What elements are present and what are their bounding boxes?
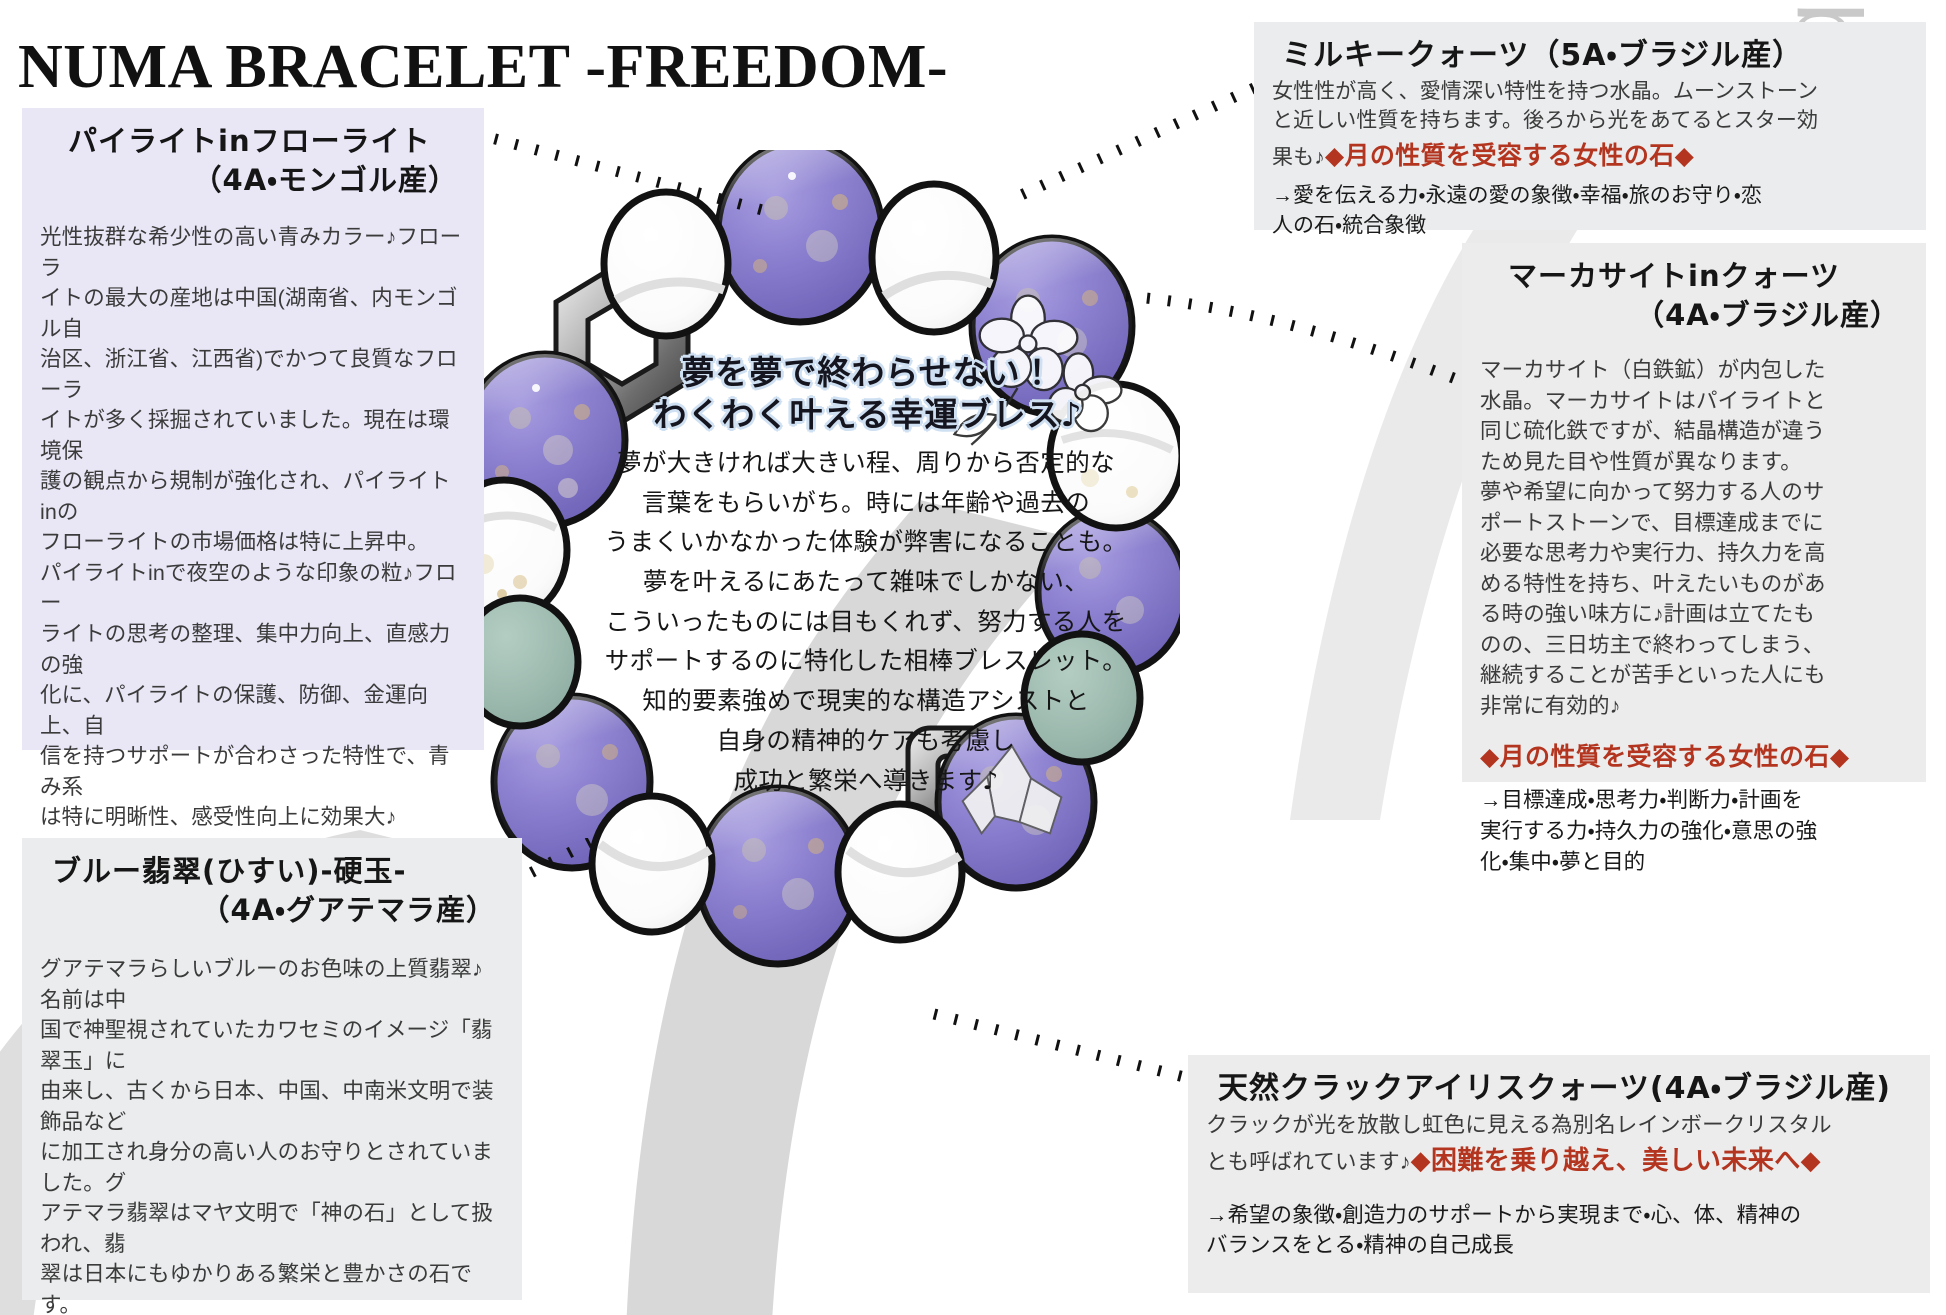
center-description: 夢が大きければ大きい程、周りから否定的な 言葉をもらいがち。時には年齢や過去の … [556, 443, 1176, 800]
bead-milky-quartz [838, 804, 962, 940]
stone-name-marcasite: マーカサイトinクォーツ （4A・ブラジル産） [1480, 257, 1908, 335]
panel-crack-iris-quartz: 天然クラックアイリスクォーツ(4A・ブラジル産) クラックが光を放散し虹色に見え… [1188, 1055, 1930, 1293]
stone-headline-milky: ◆月の性質を受容する女性の石◆ [1325, 142, 1694, 170]
stone-body-milky-row: 女性性が高く、愛情深い特性を持つ水晶。ムーンストーン と近しい性質を持ちます。後… [1272, 77, 1908, 173]
stone-effects-milky: →愛を伝える力・永遠の愛の象徴・幸福・旅のお守り・恋 人の石・統合象徴 [1272, 181, 1908, 241]
page-title: NUMA BRACELET -FREEDOM- [18, 32, 948, 103]
stone-name-milky: ミルキークォーツ（5A・ブラジル産） [1272, 36, 1908, 77]
stone-name-pyrite-line2: （4A・モンゴル産） [68, 161, 466, 200]
bead-milky-quartz [592, 796, 712, 932]
stone-name-crack-line1: 天然クラックアイリスクォーツ(4A・ブラジル産) [1218, 1071, 1891, 1106]
bead-milky-quartz [872, 184, 996, 332]
panel-pyrite-in-fluorite: パイライトinフローライト （4A・モンゴル産） 光性抜群な希少性の高い青みカラ… [22, 108, 484, 750]
bead-pyrite-in-fluorite [698, 788, 858, 964]
bead-milky-quartz [604, 192, 728, 336]
stone-name-jade-line1: ブルー翡翠(ひすい)-硬玉- [52, 854, 407, 888]
stone-name-jade-line2: （4A・グアテマラ産） [52, 891, 504, 930]
stone-headline-crack: ◆困難を乗り越え、美しい未来へ◆ [1411, 1145, 1821, 1175]
panel-milky-quartz: ミルキークォーツ（5A・ブラジル産） 女性性が高く、愛情深い特性を持つ水晶。ムー… [1254, 22, 1926, 230]
stone-name-crack: 天然クラックアイリスクォーツ(4A・ブラジル産) [1206, 1069, 1912, 1110]
stone-name-milky-line1: ミルキークォーツ（5A・ブラジル産） [1282, 38, 1803, 73]
poster-canvas: belle welle shop NUMA BRACELET -FREEDOM- [0, 0, 1946, 1315]
stone-effects-marcasite: →目標達成・思考力・判断力・計画を 実行する力・持久力の強化・意思の強 化・集中… [1480, 785, 1908, 877]
stone-name-marcasite-line2: （4A・ブラジル産） [1508, 296, 1908, 335]
stone-effects-crack: →希望の象徴・創造力のサポートから実現まで・心、体、精神の バランスをとる・精神… [1206, 1200, 1912, 1261]
stone-body-jade: グアテマラらしいブルーのお色味の上質翡翠♪名前は中 国で神聖視されていたカワセミ… [40, 954, 504, 1315]
stone-name-jade: ブルー翡翠(ひすい)-硬玉- （4A・グアテマラ産） [40, 852, 504, 930]
stone-name-pyrite: パイライトinフローライト （4A・モンゴル産） [40, 122, 466, 200]
stone-body-pyrite: 光性抜群な希少性の高い青みカラー♪フローラ イトの最大の産地は中国(湖南省、内モ… [40, 222, 466, 832]
stone-headline-marcasite: ◆月の性質を受容する女性の石◆ [1480, 737, 1908, 773]
stone-body-marcasite: マーカサイト（白鉄鉱）が内包した 水晶。マーカサイトはパイライトと 同じ硫化鉄で… [1480, 355, 1908, 721]
panel-marcasite-in-quartz: マーカサイトinクォーツ （4A・ブラジル産） マーカサイト（白鉄鉱）が内包した… [1462, 243, 1926, 782]
stone-name-pyrite-line1: パイライトinフローライト [68, 124, 431, 158]
stone-name-marcasite-line1: マーカサイトinクォーツ [1508, 259, 1840, 293]
stone-body-crack-row: クラックが光を放散し虹色に見える為別名レインボークリスタル とも呼ばれています♪… [1206, 1110, 1912, 1178]
panel-blue-jade: ブルー翡翠(ひすい)-硬玉- （4A・グアテマラ産） グアテマラらしいブルーのお… [22, 838, 522, 1300]
bead-pyrite-in-fluorite [718, 150, 882, 322]
